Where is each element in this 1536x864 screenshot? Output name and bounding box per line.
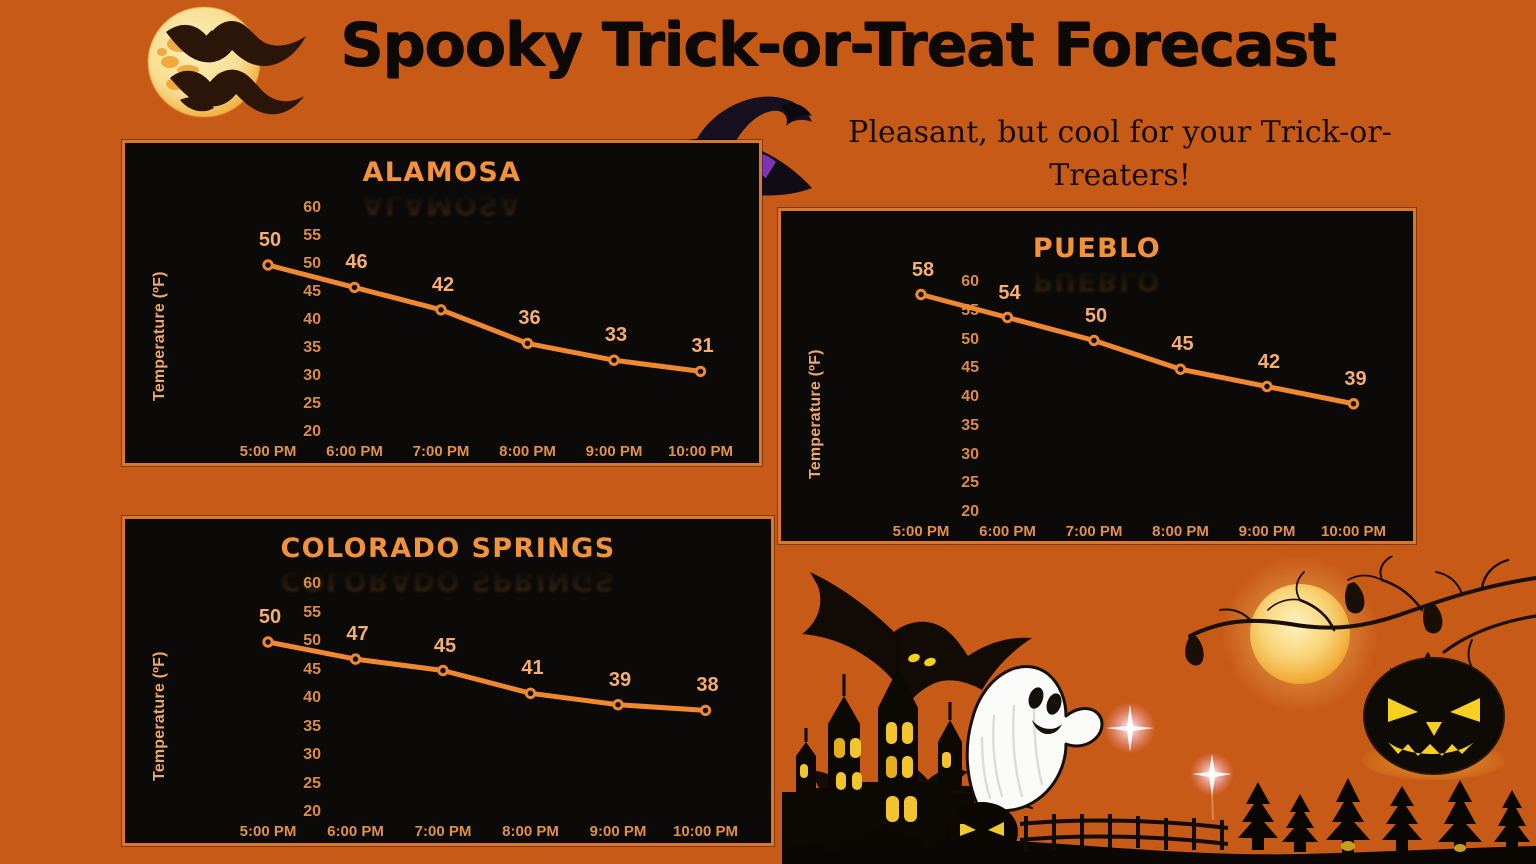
data-point-marker — [614, 701, 622, 709]
data-point-label: 54 — [998, 282, 1020, 305]
chart-panel-pueblo: PUEBLO PUEBLO Temperature (ºF) 605550454… — [778, 208, 1416, 544]
data-line — [921, 295, 1354, 404]
data-point-marker — [1349, 400, 1357, 408]
data-line — [268, 642, 706, 710]
data-point-marker — [1176, 365, 1184, 373]
data-point-marker — [437, 306, 445, 314]
plot-area-alamosa — [125, 143, 759, 463]
data-point-marker — [1003, 313, 1011, 321]
plot-area-colorado-springs — [125, 519, 771, 843]
data-point-label: 31 — [691, 335, 713, 358]
data-point-label: 42 — [432, 274, 454, 297]
data-point-marker — [526, 689, 534, 697]
data-point-marker — [917, 290, 925, 298]
data-point-marker — [696, 367, 704, 375]
data-line — [268, 265, 701, 371]
data-point-label: 39 — [609, 669, 631, 692]
data-point-label: 50 — [259, 229, 281, 252]
data-point-label: 45 — [434, 635, 456, 658]
data-point-label: 42 — [1258, 351, 1280, 374]
data-point-marker — [610, 356, 618, 364]
data-point-marker — [1090, 336, 1098, 344]
data-point-marker — [264, 638, 272, 646]
data-point-marker — [523, 339, 531, 347]
data-point-marker — [439, 666, 447, 674]
forecast-graphic: Spooky Trick-or-Treat Forecast Pleasant,… — [0, 0, 1536, 864]
chart-panel-alamosa: ALAMOSA ALAMOSA Temperature (ºF) 6055504… — [122, 140, 762, 466]
moon-with-bats-icon — [126, 4, 318, 122]
data-point-marker — [350, 283, 358, 291]
plot-area-pueblo — [781, 211, 1413, 541]
data-point-label: 47 — [346, 623, 368, 646]
data-point-marker — [1263, 382, 1271, 390]
data-point-label: 45 — [1171, 333, 1193, 356]
halloween-night-scene — [782, 556, 1536, 864]
data-point-label: 36 — [518, 307, 540, 330]
data-point-marker — [701, 706, 709, 714]
data-point-label: 38 — [696, 674, 718, 697]
data-point-label: 39 — [1344, 368, 1366, 391]
data-point-label: 41 — [521, 657, 543, 680]
data-point-label: 46 — [345, 251, 367, 274]
page-title: Spooky Trick-or-Treat Forecast — [340, 12, 1410, 79]
subtitle-text: Pleasant, but cool for your Trick-or-Tre… — [820, 112, 1420, 197]
data-point-label: 33 — [605, 324, 627, 347]
data-point-label: 58 — [912, 259, 934, 282]
data-point-label: 50 — [259, 606, 281, 629]
data-point-marker — [264, 261, 272, 269]
data-point-label: 50 — [1085, 305, 1107, 328]
data-point-marker — [351, 655, 359, 663]
chart-panel-colorado-springs: COLORADO SPRINGS COLORADO SPRINGS Temper… — [122, 516, 774, 846]
